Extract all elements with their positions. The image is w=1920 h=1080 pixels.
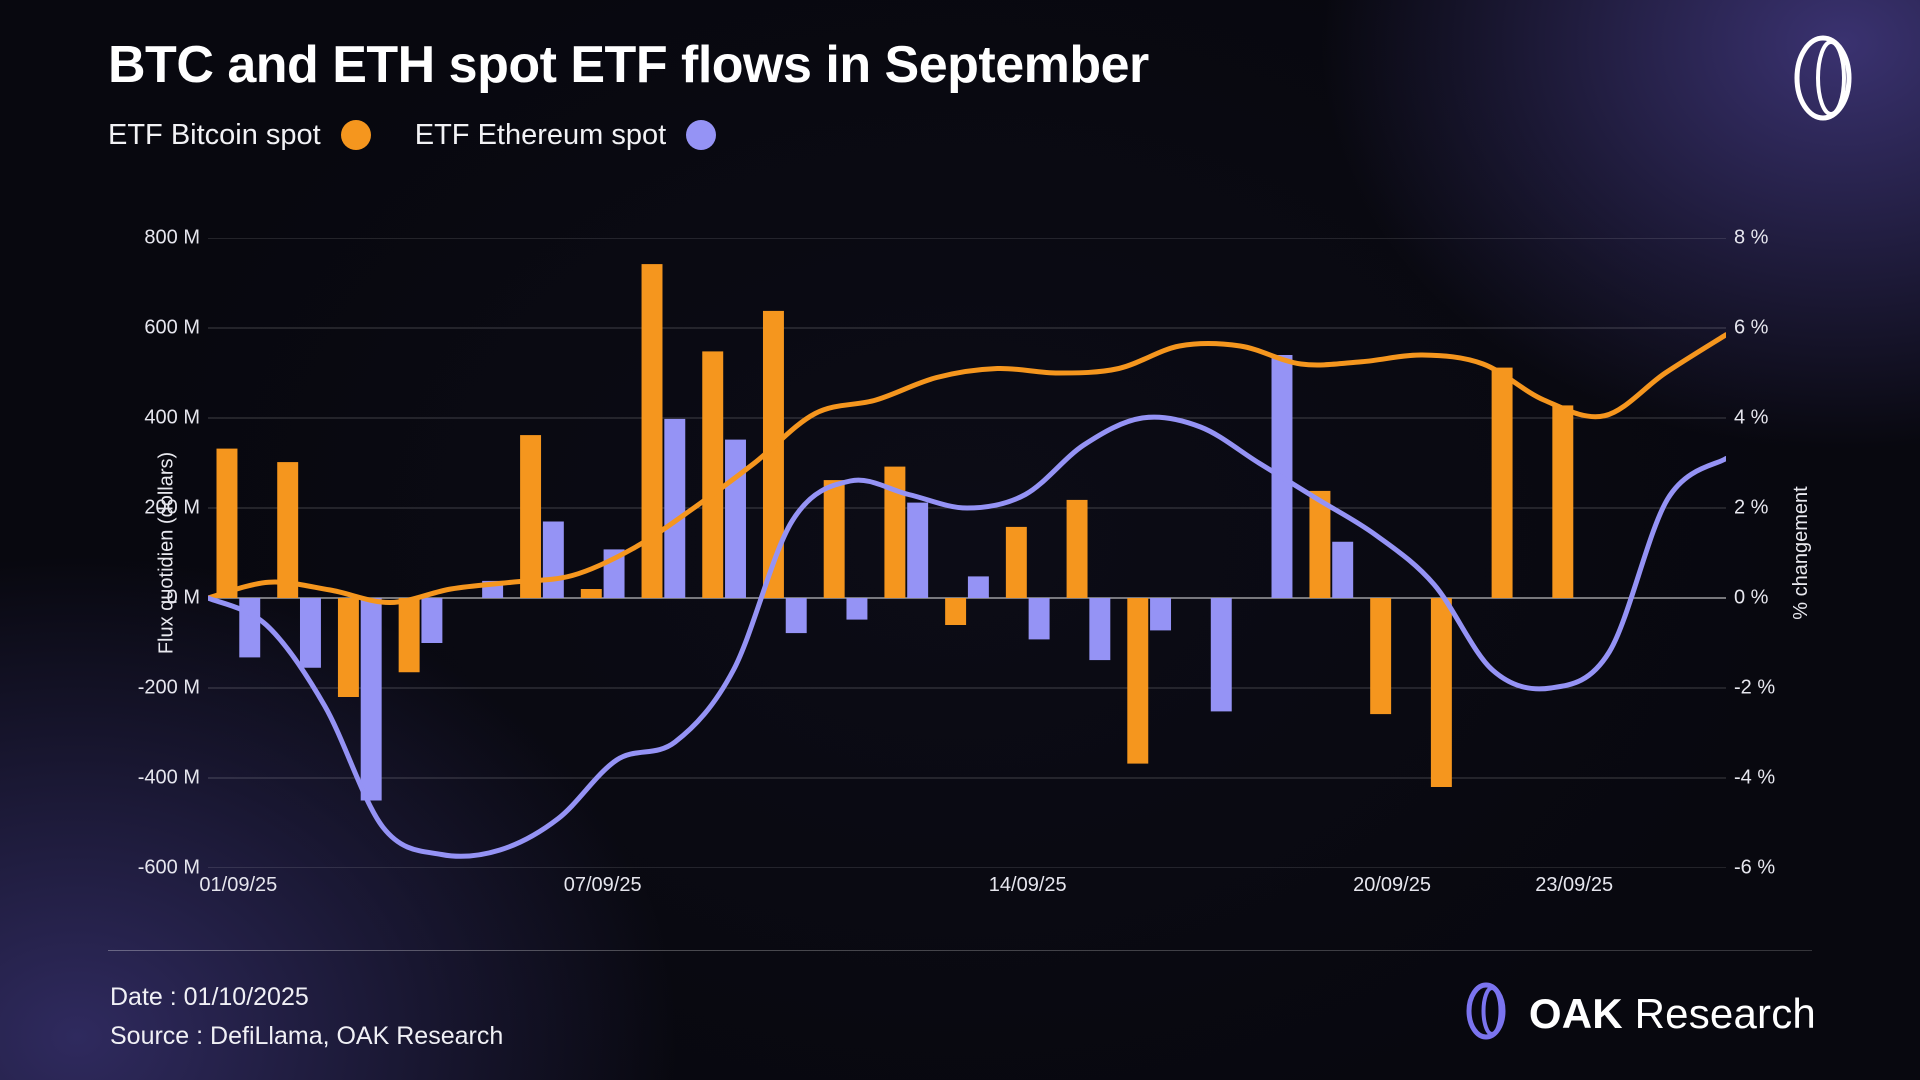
bar-eth[interactable]	[1150, 598, 1171, 630]
bar-eth[interactable]	[907, 503, 928, 598]
y-axis-left-tick: 400 M	[144, 407, 200, 430]
footer-date: Date : 01/10/2025	[110, 978, 503, 1017]
footer-logo-text: OAK Research	[1529, 990, 1816, 1038]
y-axis-left-tick: 800 M	[144, 227, 200, 250]
y-axis-right-tick: -4 %	[1734, 767, 1775, 790]
legend-dot-icon-btc	[341, 120, 371, 150]
y-axis-right: 8 %6 %4 %2 %0 %-2 %-4 %-6 %	[1734, 238, 1820, 868]
plot-canvas	[208, 238, 1726, 868]
footer-logo-bold: OAK	[1529, 990, 1623, 1037]
y-axis-right-tick: 2 %	[1734, 497, 1768, 520]
bar-btc[interactable]	[520, 435, 541, 598]
chart-legend: ETF Bitcoin spot ETF Ethereum spot	[108, 119, 1860, 152]
oak-ring-icon-footer	[1459, 982, 1513, 1045]
bar-eth[interactable]	[846, 598, 867, 620]
bar-btc[interactable]	[1492, 368, 1513, 598]
bar-btc[interactable]	[1552, 405, 1573, 598]
bar-btc[interactable]	[824, 480, 845, 598]
x-axis-tick: 20/09/25	[1353, 874, 1431, 897]
bar-btc[interactable]	[642, 264, 663, 598]
chart: Flux quotidien (dollars) % changement 80…	[108, 238, 1820, 868]
y-axis-left-tick: -600 M	[138, 857, 200, 880]
bar-eth[interactable]	[1029, 598, 1050, 639]
y-axis-left-tick: 200 M	[144, 497, 200, 520]
bar-eth[interactable]	[543, 522, 564, 599]
x-axis: 01/09/2507/09/2514/09/2520/09/2523/09/25	[208, 874, 1726, 914]
bar-btc[interactable]	[277, 462, 298, 598]
bar-eth[interactable]	[361, 598, 382, 801]
bar-btc[interactable]	[1431, 598, 1452, 787]
y-axis-right-tick: 8 %	[1734, 227, 1768, 250]
bar-btc[interactable]	[338, 598, 359, 697]
legend-dot-icon-eth	[686, 120, 716, 150]
y-axis-right-tick: 4 %	[1734, 407, 1768, 430]
bar-eth[interactable]	[664, 419, 685, 598]
bar-btc[interactable]	[1006, 527, 1027, 598]
x-axis-tick: 07/09/25	[564, 874, 642, 897]
footer-source: Source : DefiLlama, OAK Research	[110, 1017, 503, 1056]
legend-label-btc: ETF Bitcoin spot	[108, 119, 321, 152]
header: BTC and ETH spot ETF flows in September …	[108, 38, 1860, 152]
y-axis-left-tick: -400 M	[138, 767, 200, 790]
bar-btc[interactable]	[1370, 598, 1391, 714]
footer-logo: OAK Research	[1459, 982, 1816, 1045]
legend-item-eth[interactable]: ETF Ethereum spot	[415, 119, 716, 152]
footer-logo-light: Research	[1623, 990, 1816, 1037]
y-axis-right-tick: 6 %	[1734, 317, 1768, 340]
legend-label-eth: ETF Ethereum spot	[415, 119, 666, 152]
bar-eth[interactable]	[725, 440, 746, 598]
plot-svg	[208, 238, 1726, 868]
y-axis-right-tick: 0 %	[1734, 587, 1768, 610]
footer-meta: Date : 01/10/2025 Source : DefiLlama, OA…	[110, 978, 503, 1056]
x-axis-tick: 14/09/25	[989, 874, 1067, 897]
y-axis-right-tick: -2 %	[1734, 677, 1775, 700]
y-axis-right-tick: -6 %	[1734, 857, 1775, 880]
bar-btc[interactable]	[945, 598, 966, 625]
x-axis-tick: 01/09/25	[199, 874, 277, 897]
bar-eth[interactable]	[968, 576, 989, 598]
bar-eth[interactable]	[239, 598, 260, 657]
oak-ring-icon	[1784, 34, 1862, 122]
bar-btc[interactable]	[581, 589, 602, 598]
bar-eth[interactable]	[300, 598, 321, 668]
y-axis-left-tick: 0 M	[167, 587, 200, 610]
bar-eth[interactable]	[1332, 542, 1353, 598]
bar-eth[interactable]	[421, 598, 442, 643]
bar-btc[interactable]	[702, 351, 723, 598]
page-title: BTC and ETH spot ETF flows in September	[108, 38, 1860, 93]
bar-eth[interactable]	[1211, 598, 1232, 711]
bar-btc[interactable]	[399, 598, 420, 672]
bar-eth[interactable]	[786, 598, 807, 633]
bar-eth[interactable]	[1089, 598, 1110, 660]
y-axis-left-tick: 600 M	[144, 317, 200, 340]
legend-item-btc[interactable]: ETF Bitcoin spot	[108, 119, 371, 152]
bar-btc[interactable]	[1067, 500, 1088, 598]
bar-btc[interactable]	[1127, 598, 1148, 764]
y-axis-left: 800 M600 M400 M200 M0 M-200 M-400 M-600 …	[108, 238, 200, 868]
bar-btc[interactable]	[217, 449, 238, 598]
footer-divider	[108, 950, 1812, 951]
x-axis-tick: 23/09/25	[1535, 874, 1613, 897]
y-axis-left-tick: -200 M	[138, 677, 200, 700]
